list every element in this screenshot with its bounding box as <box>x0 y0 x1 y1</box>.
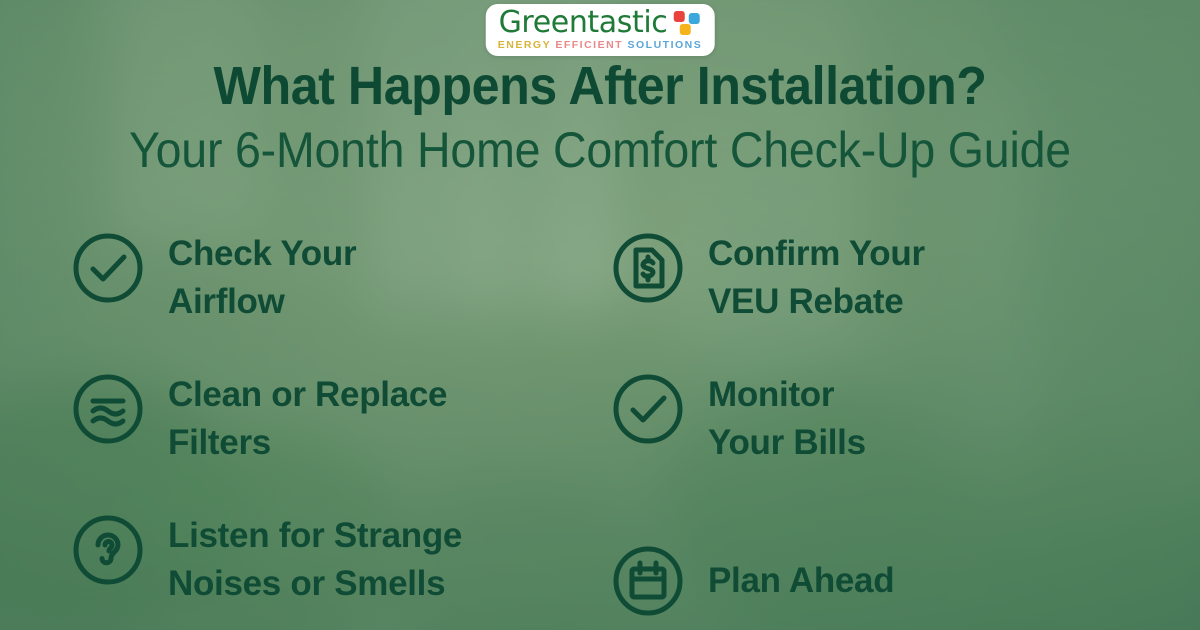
brand-tagline: ENERGY EFFICIENT SOLUTIONS <box>498 39 703 51</box>
check-circle-icon <box>610 371 686 447</box>
list-item: Monitor Your Bills <box>610 369 1130 510</box>
air-filter-icon <box>70 371 146 447</box>
brand-logo-row: Greentastic <box>498 8 703 38</box>
page-subtitle: Your 6-Month Home Comfort Check-Up Guide <box>42 122 1158 178</box>
tagline-energy: ENERGY <box>498 39 556 51</box>
brand-name: Greentastic <box>499 8 668 38</box>
hexagon-dots-icon <box>673 10 701 36</box>
list-item-label: Clean or Replace Filters <box>168 369 447 467</box>
calendar-icon <box>610 543 686 619</box>
tagline-solutions: SOLUTIONS <box>627 39 702 51</box>
list-item-label: Plan Ahead <box>708 557 894 605</box>
list-item: Confirm Your VEU Rebate <box>610 228 1130 369</box>
list-item: Plan Ahead <box>610 510 1130 630</box>
list-item-label: Check Your Airflow <box>168 228 356 326</box>
list-item-label: Listen for Strange Noises or Smells <box>168 510 462 608</box>
list-item: Check Your Airflow <box>70 228 590 369</box>
brand-logo[interactable]: Greentastic ENERGY EFFICIENT SOLUTIONS <box>486 4 715 56</box>
list-item-label: Confirm Your VEU Rebate <box>708 228 925 326</box>
checklist-grid: Check Your Airflow Confirm Your VEU Reba… <box>70 228 1130 630</box>
dot-red-icon <box>673 11 684 22</box>
dot-yellow-icon <box>679 24 690 35</box>
list-item: Listen for Strange Noises or Smells <box>70 510 590 630</box>
check-circle-icon <box>70 230 146 306</box>
document-dollar-icon <box>610 230 686 306</box>
tagline-efficient: EFFICIENT <box>555 39 627 51</box>
poster-content: Greentastic ENERGY EFFICIENT SOLUTIONS W… <box>0 0 1200 630</box>
dot-blue-icon <box>688 13 699 24</box>
list-item-label: Monitor Your Bills <box>708 369 866 467</box>
page-title: What Happens After Installation? <box>42 57 1158 115</box>
poster-canvas: Greentastic ENERGY EFFICIENT SOLUTIONS W… <box>0 0 1200 630</box>
ear-icon <box>70 512 146 588</box>
list-item: Clean or Replace Filters <box>70 369 590 510</box>
